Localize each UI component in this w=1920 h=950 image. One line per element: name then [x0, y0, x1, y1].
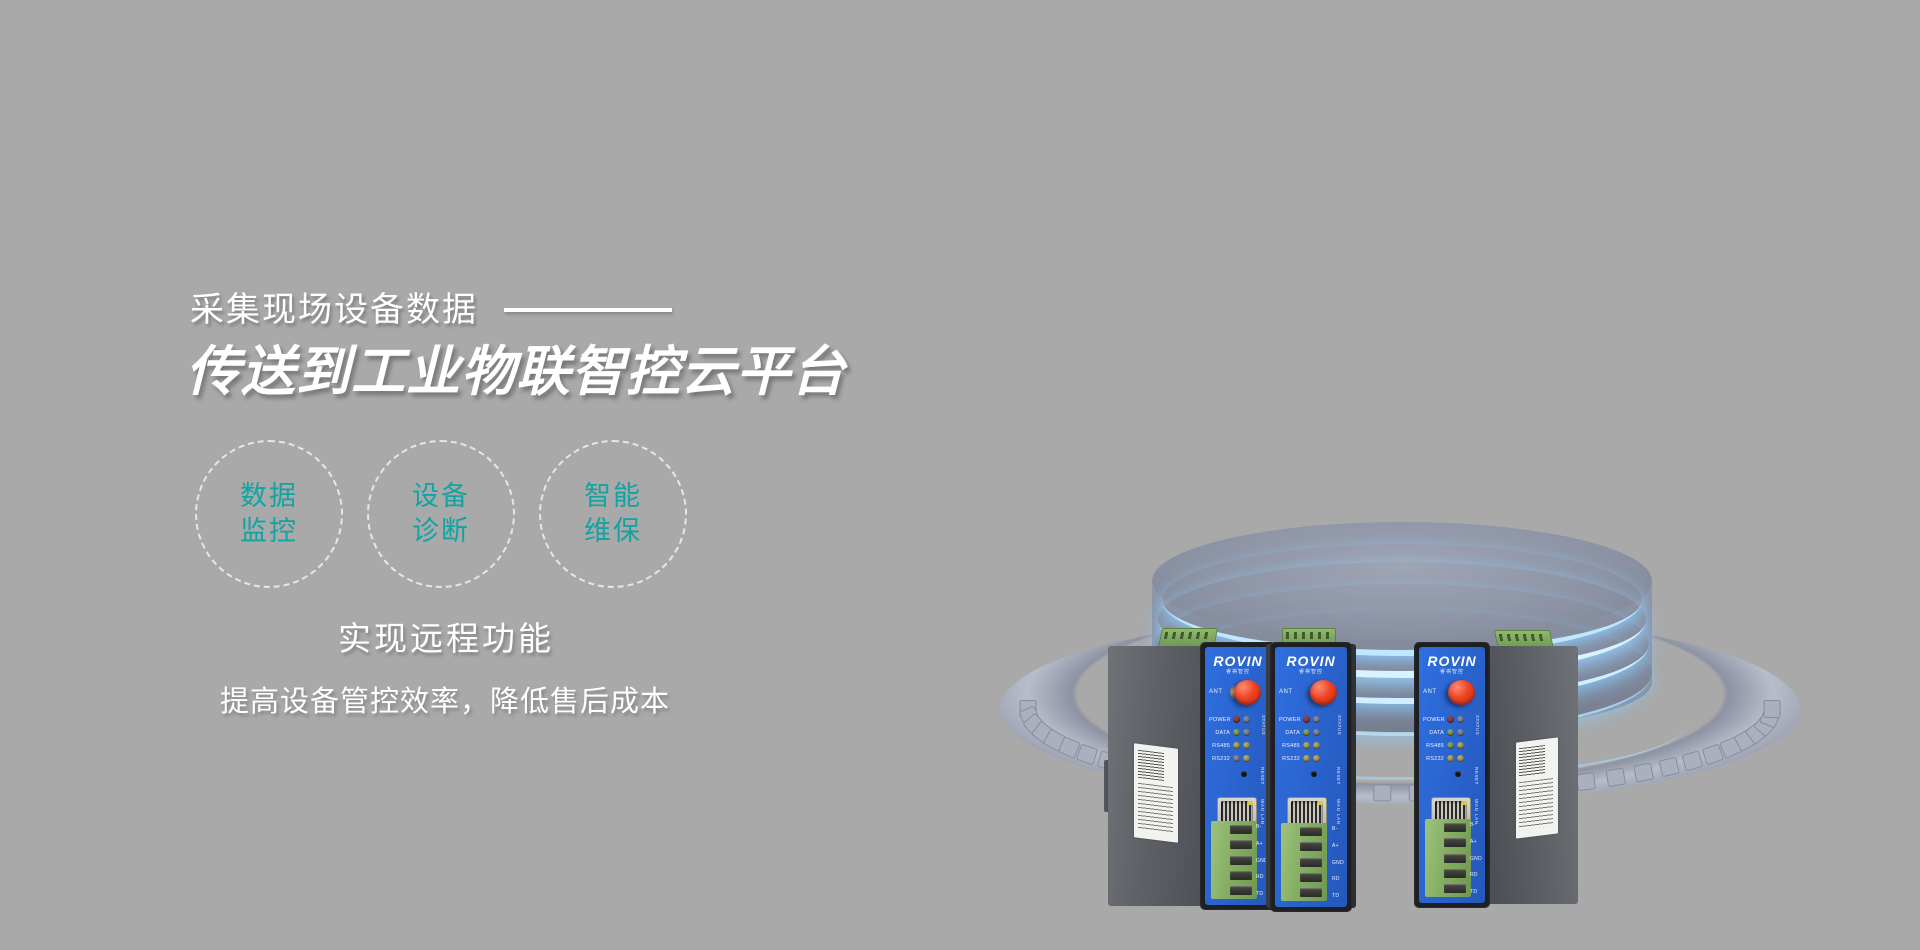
eyebrow-text: 采集现场设备数据	[190, 293, 478, 327]
signal-bars-icon: STATUS	[1461, 715, 1479, 741]
led-label: RS485	[1209, 743, 1230, 749]
status-label: STATUS	[1337, 715, 1342, 735]
led-row: POWER	[1279, 713, 1320, 726]
led-icon	[1313, 742, 1320, 749]
brand-subtitle: 睿祺智控	[1205, 670, 1271, 675]
reset-label: RESET	[1474, 767, 1479, 785]
terminal-screw-icon	[1300, 842, 1322, 851]
product-scene: ROVIN 睿祺智控 ANT POWER DATA	[1000, 190, 1800, 810]
screw-terminal-block	[1281, 823, 1327, 901]
feature-label-line1: 设备	[412, 479, 470, 514]
led-label: RS232	[1279, 756, 1300, 762]
brand-name: ROVIN	[1427, 653, 1476, 669]
led-row: RS485	[1279, 739, 1320, 752]
terminal-screw-icon	[1230, 886, 1252, 895]
led-icon	[1303, 729, 1310, 736]
reset-button[interactable]	[1241, 771, 1247, 777]
device-front-panel: ROVIN 睿祺智控 ANT POWER DATA	[1200, 642, 1276, 910]
led-row: DATA	[1209, 726, 1250, 739]
led-row: RS232	[1423, 752, 1464, 765]
led-row: RS485	[1423, 739, 1464, 752]
led-indicator-group: POWER DATA RS485	[1423, 713, 1464, 765]
copy-block: 采集现场设备数据 传送到工业物联智控云平台 数据 监控 设备 诊断 智能 维保 …	[0, 0, 900, 950]
feature-circle-smart-maintenance[interactable]: 智能 维保	[539, 440, 687, 588]
subheading: 实现远程功能	[186, 612, 706, 660]
led-icon	[1303, 716, 1310, 723]
terminal-label: TD	[1332, 894, 1344, 899]
brand-subtitle: 睿祺智控	[1419, 670, 1485, 675]
screw-terminal-block	[1211, 821, 1257, 899]
led-icon	[1243, 755, 1250, 762]
reset-button[interactable]	[1311, 771, 1317, 777]
brand-subtitle: 睿祺智控	[1275, 670, 1347, 675]
device-front-panel: ROVIN 睿祺智控 ANT POWER DATA	[1270, 642, 1352, 912]
led-row: RS485	[1209, 739, 1250, 752]
antenna-label: ANT	[1423, 689, 1437, 695]
led-icon	[1447, 729, 1454, 736]
tagline: 提高设备管控效率，降低售后成本	[160, 678, 730, 720]
led-label: RS232	[1209, 756, 1230, 762]
terminal-label-group: B- A+ GND RD TD	[1332, 827, 1344, 899]
terminal-screw-icon	[1444, 869, 1466, 878]
brand-name: ROVIN	[1286, 653, 1335, 669]
signal-bars-icon: STATUS	[1323, 715, 1341, 741]
feature-circle-data-monitoring[interactable]: 数据 监控	[195, 440, 343, 588]
led-icon	[1457, 755, 1464, 762]
led-icon	[1313, 716, 1320, 723]
feature-circle-list: 数据 监控 设备 诊断 智能 维保	[195, 440, 687, 588]
antenna-cap-icon	[1310, 680, 1337, 705]
terminal-screw-icon	[1300, 873, 1322, 882]
terminal-label: TD	[1470, 890, 1482, 895]
led-icon	[1313, 729, 1320, 736]
led-row: RS232	[1279, 752, 1320, 765]
reset-label: RESET	[1260, 767, 1265, 785]
led-row: POWER	[1209, 713, 1250, 726]
banner-root: 采集现场设备数据 传送到工业物联智控云平台 数据 监控 设备 诊断 智能 维保 …	[0, 0, 1920, 950]
antenna-cap-icon	[1448, 680, 1475, 705]
device-front-panel: ROVIN 睿祺智控 ANT POWER DATA	[1414, 642, 1490, 908]
terminal-screw-icon	[1444, 854, 1466, 863]
antenna-label: ANT	[1209, 689, 1223, 695]
terminal-label: A+	[1332, 844, 1344, 849]
feature-label-line2: 诊断	[412, 514, 470, 549]
signal-bars-icon: STATUS	[1247, 715, 1265, 741]
brand-name: ROVIN	[1213, 653, 1262, 669]
led-label: DATA	[1209, 730, 1230, 736]
device-side-label	[1516, 737, 1558, 838]
brand-logo: ROVIN 睿祺智控	[1275, 654, 1347, 675]
led-icon	[1447, 742, 1454, 749]
terminal-screw-icon	[1230, 871, 1252, 880]
screw-terminal-block	[1425, 819, 1471, 897]
reset-button[interactable]	[1455, 771, 1461, 777]
feature-label-line2: 维保	[584, 514, 642, 549]
brand-logo: ROVIN 睿祺智控	[1205, 654, 1271, 675]
terminal-screw-icon	[1230, 856, 1252, 865]
terminal-label: GND	[1470, 857, 1482, 862]
led-icon	[1233, 716, 1240, 723]
led-label: POWER	[1279, 717, 1300, 723]
terminal-label: RD	[1470, 873, 1482, 878]
led-label: RS232	[1423, 756, 1444, 762]
led-label: POWER	[1423, 717, 1444, 723]
page-title: 传送到工业物联智控云平台	[186, 340, 846, 405]
led-label: POWER	[1209, 717, 1230, 723]
led-icon	[1313, 755, 1320, 762]
terminal-label: A+	[1470, 840, 1482, 845]
led-icon	[1303, 742, 1310, 749]
terminal-screw-icon	[1300, 858, 1322, 867]
terminal-label-group: B- A+ GND RD TD	[1470, 823, 1482, 895]
antenna-cap-icon	[1234, 680, 1261, 705]
terminal-label: GND	[1332, 861, 1344, 866]
led-row: DATA	[1423, 726, 1464, 739]
feature-label-line2: 监控	[240, 514, 298, 549]
terminal-screw-icon	[1300, 827, 1322, 836]
led-icon	[1233, 755, 1240, 762]
led-icon	[1303, 755, 1310, 762]
led-indicator-group: POWER DATA RS485	[1209, 713, 1250, 765]
feature-circle-device-diagnosis[interactable]: 设备 诊断	[367, 440, 515, 588]
terminal-label: B-	[1470, 823, 1482, 828]
led-icon	[1243, 742, 1250, 749]
status-label: STATUS	[1475, 715, 1480, 735]
led-icon	[1447, 716, 1454, 723]
brand-logo: ROVIN 睿祺智控	[1419, 654, 1485, 675]
led-label: RS485	[1423, 743, 1444, 749]
led-row: POWER	[1423, 713, 1464, 726]
feature-label-line1: 智能	[584, 479, 642, 514]
terminal-screw-icon	[1300, 888, 1322, 897]
terminal-screw-icon	[1444, 838, 1466, 847]
reset-label: RESET	[1336, 767, 1341, 785]
device-side-label	[1134, 743, 1178, 842]
feature-label-line1: 数据	[240, 479, 298, 514]
antenna-label: ANT	[1279, 689, 1293, 695]
terminal-label: B-	[1332, 827, 1344, 832]
eyebrow-row: 采集现场设备数据	[190, 293, 672, 327]
led-row: DATA	[1279, 726, 1320, 739]
led-label: DATA	[1279, 730, 1300, 736]
led-icon	[1233, 729, 1240, 736]
terminal-screw-icon	[1230, 840, 1252, 849]
port-label: WAN LAN	[1336, 799, 1341, 825]
led-label: DATA	[1423, 730, 1444, 736]
led-label: RS485	[1279, 743, 1300, 749]
led-row: RS232	[1209, 752, 1250, 765]
port-label: WAN LAN	[1260, 799, 1265, 825]
terminal-label: RD	[1332, 877, 1344, 882]
led-indicator-group: POWER DATA RS485	[1279, 713, 1320, 765]
eyebrow-divider	[504, 308, 672, 312]
terminal-screw-icon	[1444, 823, 1466, 832]
led-icon	[1233, 742, 1240, 749]
terminal-screw-icon	[1230, 825, 1252, 834]
led-icon	[1447, 755, 1454, 762]
terminal-screw-icon	[1444, 884, 1466, 893]
led-icon	[1457, 742, 1464, 749]
